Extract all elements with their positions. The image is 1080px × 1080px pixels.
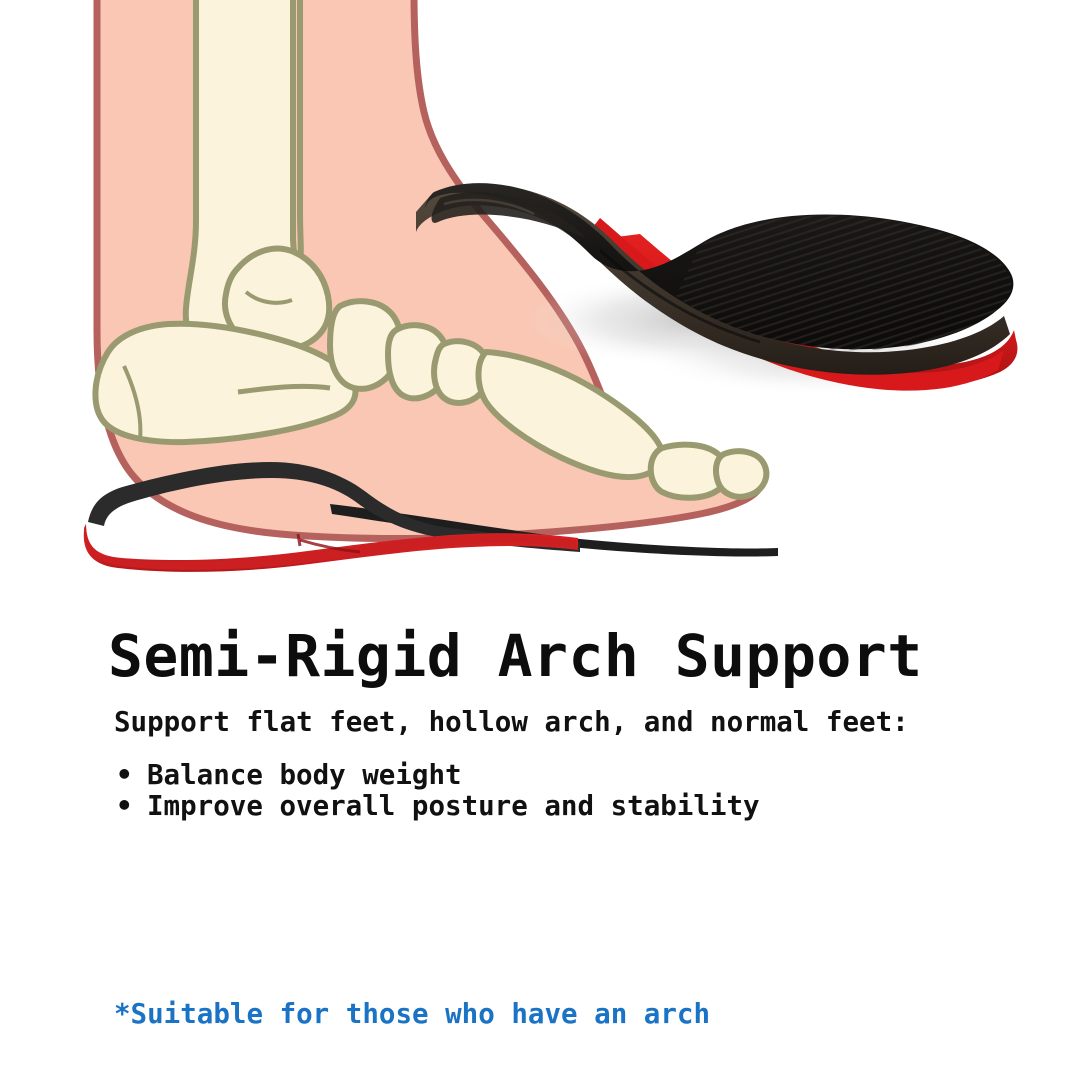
benefit-list: • Balance body weight • Improve overall … [114,760,760,822]
subtitle: Support flat feet, hollow arch, and norm… [114,706,909,738]
product-description-block: Semi-Rigid Arch Support Support flat fee… [0,600,1080,1080]
list-item: • Balance body weight [114,760,760,791]
bullet-icon: • [116,791,133,822]
list-item-label: Balance body weight [147,759,462,791]
list-item-label: Improve overall posture and stability [147,790,760,822]
foot-anatomy-with-insole-illustration [0,0,1080,600]
bullet-icon: • [116,760,133,791]
footnote-line-1: *Suitable for those who have an arch [114,999,710,1030]
toe-phalanx-bones [651,445,767,498]
product-infographic-page: Semi-Rigid Arch Support Support flat fee… [0,0,1080,1080]
page-title: Semi-Rigid Arch Support [108,622,923,690]
list-item: • Improve overall posture and stability [114,791,760,822]
footnote: *Suitable for those who have an arch hei… [114,937,710,1080]
